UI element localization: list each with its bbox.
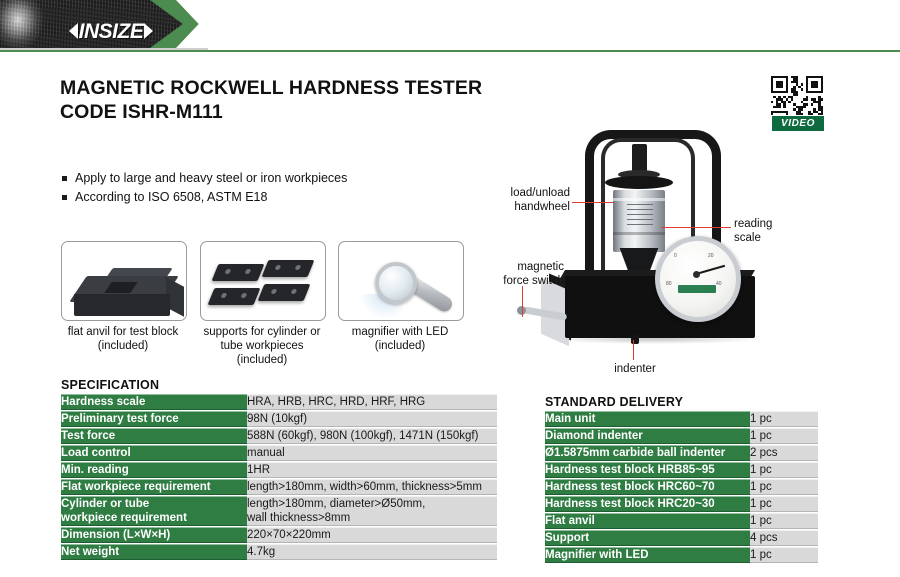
spec-label: Hardness scale [61,394,247,410]
support-hole [244,269,251,274]
caption-line-2: (included) [334,339,466,353]
delivery-label: Hardness test block HRB85~95 [545,462,750,478]
dial-marking: 80 [666,281,672,287]
callout-reading-scale: reading scale [734,217,794,245]
delivery-qty: 1 pc [750,428,818,444]
table-row: Hardness test block HRB85~95 1 pc [545,462,818,478]
support-hole [290,289,297,294]
support-plate [258,284,311,301]
callout-line-2: force switch [488,274,564,288]
delivery-qty: 1 pc [750,479,818,495]
spec-label: Test force [61,428,247,444]
support-hole [274,265,281,270]
spec-label: Load control [61,445,247,461]
support-plate [262,260,315,277]
spec-value: manual [247,445,497,461]
table-row: Cylinder or tube workpiece requirement l… [61,496,497,526]
spec-value: 98N (10kgf) [247,411,497,427]
caption-line-1: magnifier with LED [334,325,466,339]
delivery-label: Main unit [545,411,750,427]
table-row: Net weight 4.7kg [61,544,497,560]
table-row: Magnifier with LED 1 pc [545,547,818,563]
support-hole [224,269,231,274]
table-row: Flat anvil 1 pc [545,513,818,529]
specification-table: Hardness scale HRA, HRB, HRC, HRD, HRF, … [61,393,497,561]
spec-label: Cylinder or tube workpiece requirement [61,496,247,526]
delivery-label: Ø1.5875mm carbide ball indenter [545,445,750,461]
load-unload-handwheel [605,176,673,189]
spec-value: 220×70×220mm [247,527,497,543]
accessory-card-magnifier [338,241,464,321]
callout-line-1: load/unload [498,186,570,200]
table-row: Hardness scale HRA, HRB, HRC, HRD, HRF, … [61,394,497,410]
delivery-qty: 1 pc [750,513,818,529]
delivery-label: Magnifier with LED [545,547,750,563]
table-row: Preliminary test force 98N (10kgf) [61,411,497,427]
spec-label: Dimension (L×W×H) [61,527,247,543]
right-arrow-icon [144,23,153,39]
support-hole [220,293,227,298]
flat-anvil-photo [62,242,186,320]
list-item: According to ISO 6508, ASTM E18 [62,189,522,205]
spec-label: Net weight [61,544,247,560]
callout-line-1: indenter [603,362,667,376]
spec-label: Min. reading [61,462,247,478]
magnifier-photo [339,242,463,320]
spec-label: Preliminary test force [61,411,247,427]
product-photo: 0 20 80 40 [505,128,825,368]
table-row: Hardness test block HRC60~70 1 pc [545,479,818,495]
bullet-square-icon [62,195,67,200]
spec-value: length>180mm, width>60mm, thickness>5mm [247,479,497,495]
callout-line-2: handwheel [498,200,570,214]
cylinder-band-lower [613,232,665,235]
callout-indenter: indenter [603,362,667,376]
dial-marking: 40 [716,281,722,287]
delivery-label: Support [545,530,750,546]
support-hole [240,293,247,298]
table-row: Support 4 pcs [545,530,818,546]
insize-logo[interactable]: INSIZE [52,20,170,42]
support-plate [212,264,265,281]
table-row: Main unit 1 pc [545,411,818,427]
header-banner: INSIZE [0,0,900,52]
callout-load-unload-handwheel: load/unload handwheel [498,186,570,214]
spec-label: Flat workpiece requirement [61,479,247,495]
table-row: Ø1.5875mm carbide ball indenter 2 pcs [545,445,818,461]
spec-value: 4.7kg [247,544,497,560]
standard-delivery-table: Main unit 1 pc Diamond indenter 1 pc Ø1.… [545,410,818,564]
banner-green-rule [0,50,900,52]
spec-value: 588N (60kgf), 980N (100kgf), 1471N (150k… [247,428,497,444]
callout-line-1: reading [734,217,794,231]
table-row: Load control manual [61,445,497,461]
delivery-qty: 1 pc [750,496,818,512]
table-row: Dimension (L×W×H) 220×70×220mm [61,527,497,543]
table-row: Hardness test block HRC20~30 1 pc [545,496,818,512]
caption-line-1: flat anvil for test block [55,325,191,339]
dial-needle [696,265,725,275]
delivery-qty: 1 pc [750,462,818,478]
delivery-label: Hardness test block HRC20~30 [545,496,750,512]
dial-brand-logo [678,285,716,293]
delivery-label: Diamond indenter [545,428,750,444]
dial-gauge: 0 20 80 40 [655,236,741,322]
leader-line-handwheel [572,202,613,203]
dial-marking: 20 [708,253,714,259]
leader-line-magnetic-switch [522,286,523,317]
support-plate [208,288,261,305]
delivery-qty: 1 pc [750,547,818,563]
callout-line-2: scale [734,231,794,245]
leader-line-indenter [633,340,634,360]
accessory-caption-magnifier: magnifier with LED (included) [334,325,466,353]
dial-marking: 0 [674,253,677,259]
list-item: Apply to large and heavy steel or iron w… [62,170,522,186]
supports-photo [201,242,325,320]
spec-value: HRA, HRB, HRC, HRD, HRF, HRG [247,394,497,410]
caption-line-1: supports for cylinder or [196,325,328,339]
accessory-card-anvil [61,241,187,321]
bullet-text: Apply to large and heavy steel or iron w… [75,170,347,186]
feature-list: Apply to large and heavy steel or iron w… [62,170,522,209]
spec-value: length>180mm, diameter>Ø50mm, wall thick… [247,496,497,526]
accessory-caption-supports: supports for cylinder or tube workpieces… [196,325,328,367]
dial-hub [693,271,700,278]
table-row: Diamond indenter 1 pc [545,428,818,444]
caption-line-2: (included) [55,339,191,353]
magnifier-lens [375,262,417,304]
callout-line-1: magnetic [488,260,564,274]
delivery-qty: 4 pcs [750,530,818,546]
accessory-card-supports [200,241,326,321]
support-hole [294,265,301,270]
delivery-label: Hardness test block HRC60~70 [545,479,750,495]
support-hole [270,289,277,294]
specification-title: SPECIFICATION [61,378,159,392]
spec-value: 1HR [247,462,497,478]
bullet-square-icon [62,176,67,181]
accessory-caption-anvil: flat anvil for test block (included) [55,325,191,353]
title-line-1: MAGNETIC ROCKWELL HARDNESS TESTER [60,76,530,100]
callout-magnetic-force-switch: magnetic force switch [488,260,564,288]
table-row: Flat workpiece requirement length>180mm,… [61,479,497,495]
cylinder-band-upper [613,198,665,201]
caption-line-2: tube workpieces (included) [196,339,328,367]
bullet-text: According to ISO 6508, ASTM E18 [75,189,267,205]
title-line-2: CODE ISHR-M111 [60,100,530,124]
anvil-front-face [74,294,170,316]
standard-delivery-title: STANDARD DELIVERY [545,395,683,409]
page-title: MAGNETIC ROCKWELL HARDNESS TESTER CODE I… [60,76,530,124]
table-row: Min. reading 1HR [61,462,497,478]
scale-ticks [627,204,653,228]
leader-line-reading-scale [661,227,731,228]
delivery-label: Flat anvil [545,513,750,529]
left-arrow-icon [69,23,78,39]
delivery-qty: 2 pcs [750,445,818,461]
delivery-qty: 1 pc [750,411,818,427]
table-row: Test force 588N (60kgf), 980N (100kgf), … [61,428,497,444]
logo-wordmark: INSIZE [79,21,144,42]
